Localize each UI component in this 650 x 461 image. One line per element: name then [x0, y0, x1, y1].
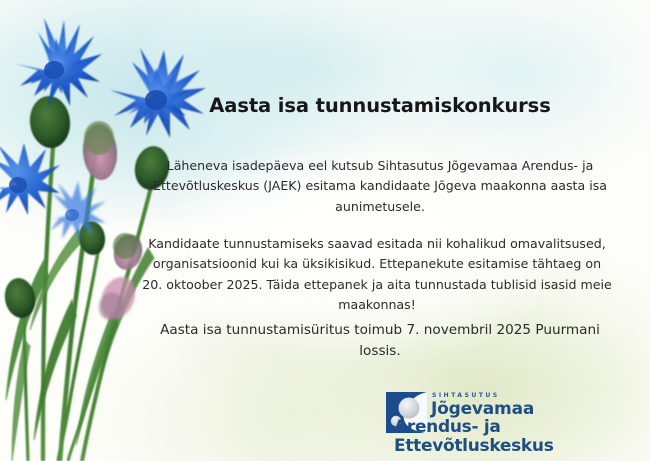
poster-canvas: Aasta isa tunnustamiskonkurss Läheneva i…	[0, 0, 650, 461]
page-title: Aasta isa tunnustamiskonkurss	[150, 94, 610, 117]
details-paragraph: Kandidaate tunnustamiseks saavad esitada…	[142, 234, 612, 316]
logo-line-two: Arendus- ja Ettevõtluskeskus	[394, 418, 640, 456]
jaek-logo: SIHTASUTUS Jõgevamaa Arendus- ja Ettevõt…	[386, 392, 636, 444]
event-paragraph: Aasta isa tunnustamisüritus toimub 7. no…	[150, 320, 610, 362]
intro-paragraph: Läheneva isadepäeva eel kutsub Sihtasutu…	[150, 156, 610, 217]
logo-line-one: Jõgevamaa	[430, 400, 640, 418]
jaek-logo-text: SIHTASUTUS Jõgevamaa Arendus- ja Ettevõt…	[430, 392, 640, 456]
